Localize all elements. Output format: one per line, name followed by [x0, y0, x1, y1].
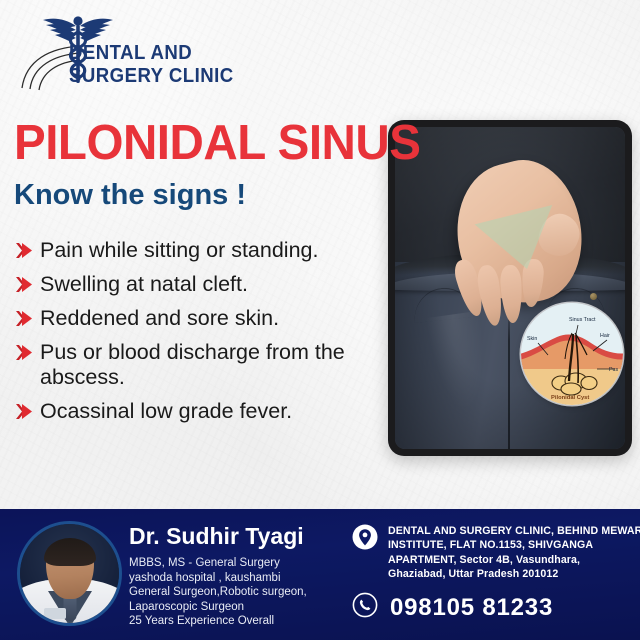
- tablet-device-icon: Skin Sinus Tract Hair Pus Fat Pilonidal …: [388, 120, 632, 456]
- credential-line: MBBS, MS - General Surgery: [129, 556, 344, 571]
- address-text: DENTAL AND SURGERY CLINIC, BEHIND MEWAR …: [388, 524, 630, 582]
- label-sinus-tract: Sinus Tract: [569, 317, 596, 323]
- address-line: DENTAL AND SURGERY CLINIC, BEHIND MEWAR: [388, 524, 630, 538]
- credential-line: 25 Years Experience Overall: [129, 614, 344, 629]
- credential-line: yashoda hospital , kaushambi: [129, 571, 344, 586]
- list-item: Pain while sitting or standing.: [14, 238, 389, 263]
- double-chevron-arrow-icon: [15, 403, 35, 420]
- contact-banner: Dr. Sudhir Tyagi MBBS, MS - General Surg…: [0, 509, 640, 640]
- symptom-text: Swelling at natal cleft.: [40, 272, 248, 296]
- list-item: Pus or blood discharge from the abscess.: [14, 340, 389, 390]
- clinic-logo[interactable]: DENTAL AND SURGERY CLINIC: [14, 10, 244, 96]
- phone-icon: [352, 592, 378, 618]
- logo-line-2: SURGERY CLINIC: [69, 65, 234, 88]
- credential-line: General Surgeon,Robotic surgeon,: [129, 585, 344, 600]
- map-pin-icon: [352, 524, 378, 550]
- list-item: Reddened and sore skin.: [14, 306, 389, 331]
- page-title: PILONIDAL SINUS: [14, 118, 383, 168]
- address-line: APARTMENT, Sector 4B, Vasundhara,: [388, 553, 630, 567]
- double-chevron-arrow-icon: [15, 310, 35, 327]
- page-subtitle: Know the signs !: [14, 178, 246, 212]
- double-chevron-arrow-icon: [15, 276, 35, 293]
- address-line: Ghaziabad, Uttar Pradesh 201012: [388, 567, 630, 581]
- tablet-screen-photo: Skin Sinus Tract Hair Pus Fat Pilonidal …: [395, 127, 625, 449]
- symptom-text: Reddened and sore skin.: [40, 306, 279, 330]
- symptom-text: Pain while sitting or standing.: [40, 238, 318, 262]
- clinic-logo-text: DENTAL AND SURGERY CLINIC: [69, 42, 234, 88]
- label-skin: Skin: [527, 336, 537, 342]
- logo-line-1: DENTAL AND: [69, 42, 234, 65]
- label-hair: Hair: [600, 333, 610, 339]
- poster-root: DENTAL AND SURGERY CLINIC PILONIDAL SINU…: [0, 0, 640, 640]
- double-chevron-arrow-icon: [15, 344, 35, 361]
- credential-line: Laparoscopic Surgeon: [129, 600, 344, 615]
- symptom-text: Pus or blood discharge from the abscess.: [40, 340, 345, 389]
- phone-number: 098105 81233: [390, 592, 630, 623]
- symptom-text: Ocassinal low grade fever.: [40, 399, 292, 423]
- pilonidal-sinus-diagram: Skin Sinus Tract Hair Pus Fat Pilonidal …: [521, 303, 623, 405]
- list-item: Swelling at natal cleft.: [14, 272, 389, 297]
- list-item: Ocassinal low grade fever.: [14, 399, 389, 424]
- label-pilonidal-cyst: Pilonidal Cyst: [551, 395, 589, 401]
- symptom-list: Pain while sitting or standing. Swelling…: [14, 238, 389, 424]
- doctor-credentials: MBBS, MS - General Surgery yashoda hospi…: [129, 556, 344, 629]
- clinic-address[interactable]: DENTAL AND SURGERY CLINIC, BEHIND MEWAR …: [352, 524, 630, 582]
- double-chevron-arrow-icon: [15, 242, 35, 259]
- label-pus: Pus: [609, 367, 618, 373]
- doctor-name: Dr. Sudhir Tyagi: [129, 523, 304, 550]
- doctor-portrait-avatar: [17, 521, 122, 626]
- address-line: INSTITUTE, FLAT NO.1153, SHIVGANGA: [388, 538, 630, 552]
- clinic-phone[interactable]: 098105 81233: [352, 592, 630, 626]
